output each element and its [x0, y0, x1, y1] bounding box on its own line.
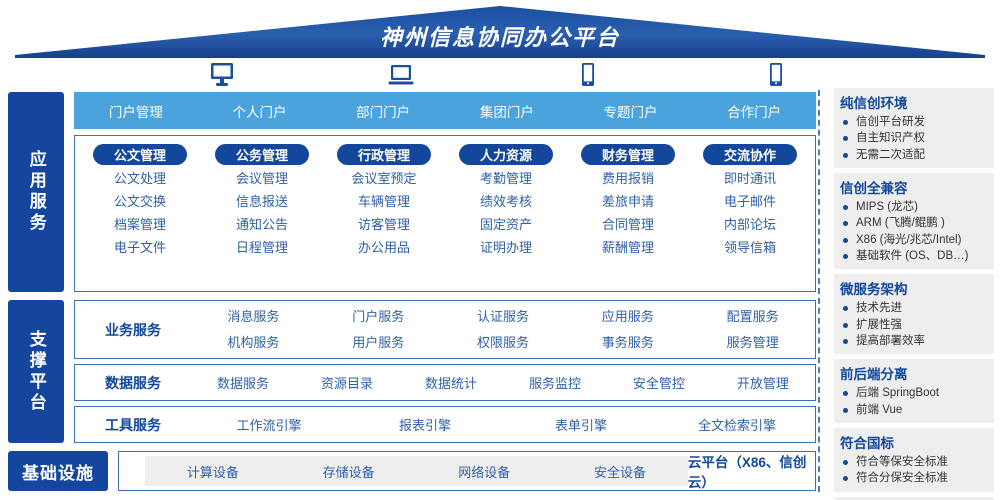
support-row-items: 数据服务资源目录数据统计服务监控安全管控开放管理 — [191, 373, 815, 392]
laptop-icon — [388, 62, 414, 88]
application-column: 公务管理会议管理信息报送通知公告日程管理 — [201, 144, 323, 287]
feature-panel-item: X86 (海光/兆芯/Intel) — [840, 232, 988, 248]
application-category-pill[interactable]: 公务管理 — [215, 144, 309, 165]
feature-panel-item: 符合分保安全标准 — [840, 470, 988, 486]
feature-panel-item: MIPS (龙芯) — [840, 199, 988, 215]
support-row-items: 消息服务门户服务认证服务应用服务配置服务机构服务用户服务权限服务事务服务服务管理 — [191, 304, 815, 356]
section-label-application-services: 应用服务 — [8, 92, 64, 292]
tablet-icon — [768, 62, 784, 88]
feature-panel: 前后端分离后端 SpringBoot前端 Vue — [834, 359, 994, 423]
support-service-item[interactable]: 全文检索引擎 — [659, 415, 815, 434]
application-item[interactable]: 通知公告 — [236, 218, 288, 231]
feature-panel-item: ARM (飞腾/鲲鹏 ) — [840, 215, 988, 231]
infrastructure-cloud-platform: 云平台（X86、信创云） — [688, 452, 815, 490]
application-item[interactable]: 合同管理 — [602, 218, 654, 231]
infrastructure-item[interactable]: 计算设备 — [145, 462, 281, 481]
section-label-support-platform-text: 支撑平台 — [23, 330, 49, 414]
feature-panel: 符合国标符合等保安全标准符合分保安全标准 — [834, 428, 994, 492]
infrastructure-item[interactable]: 安全设备 — [552, 462, 688, 481]
portal-item[interactable]: 个人门户 — [198, 101, 322, 121]
application-item[interactable]: 访客管理 — [358, 218, 410, 231]
page-title: 神州信息协同办公平台 — [0, 20, 1000, 52]
feature-panel-item: 前端 Vue — [840, 402, 988, 418]
infrastructure-item[interactable]: 网络设备 — [416, 462, 552, 481]
support-row-label: 数据服务 — [75, 373, 191, 393]
desktop-monitor-icon — [210, 62, 234, 88]
support-service-item[interactable]: 服务监控 — [503, 373, 607, 392]
support-row-label: 工具服务 — [75, 415, 191, 435]
support-service-item[interactable]: 安全管控 — [607, 373, 711, 392]
application-item[interactable]: 内部论坛 — [724, 218, 776, 231]
application-item[interactable]: 车辆管理 — [358, 195, 410, 208]
support-row-data-services: 数据服务数据服务资源目录数据统计服务监控安全管控开放管理 — [74, 364, 816, 401]
support-service-item[interactable]: 资源目录 — [295, 373, 399, 392]
portal-item[interactable]: 门户管理 — [74, 101, 198, 121]
application-item[interactable]: 领导信箱 — [724, 241, 776, 254]
vertical-dashed-divider — [818, 90, 820, 492]
application-category-pill[interactable]: 财务管理 — [581, 144, 675, 165]
support-service-item[interactable]: 服务管理 — [690, 330, 815, 356]
application-category-pill[interactable]: 行政管理 — [337, 144, 431, 165]
application-item[interactable]: 公文处理 — [114, 172, 166, 185]
support-service-item[interactable]: 开放管理 — [711, 373, 815, 392]
feature-panel-item: 符合等保安全标准 — [840, 454, 988, 470]
feature-panel-item: 提高部署效率 — [840, 333, 988, 349]
application-column: 行政管理会议室预定车辆管理访客管理办公用品 — [323, 144, 445, 287]
feature-panel-item: 技术先进 — [840, 300, 988, 316]
application-item[interactable]: 会议室预定 — [351, 172, 416, 185]
feature-panel-item: 信创平台研发 — [840, 114, 988, 130]
support-service-item[interactable]: 表单引擎 — [503, 415, 659, 434]
feature-panel-item: 自主知识产权 — [840, 130, 988, 146]
feature-panel-item: 无需二次适配 — [840, 147, 988, 163]
application-item[interactable]: 信息报送 — [236, 195, 288, 208]
application-item[interactable]: 固定资产 — [480, 218, 532, 231]
application-item[interactable]: 证明办理 — [480, 241, 532, 254]
support-service-item[interactable]: 应用服务 — [565, 304, 690, 330]
support-service-item[interactable]: 工作流引擎 — [191, 415, 347, 434]
support-service-item[interactable]: 事务服务 — [565, 330, 690, 356]
application-item[interactable]: 日程管理 — [236, 241, 288, 254]
feature-panel: 微服务架构技术先进扩展性强提高部署效率 — [834, 274, 994, 354]
section-label-support-platform: 支撑平台 — [8, 300, 64, 443]
application-services-card: 公文管理公文处理公文交换档案管理电子文件公务管理会议管理信息报送通知公告日程管理… — [74, 135, 816, 292]
section-label-infrastructure: 基础设施 — [8, 451, 108, 491]
feature-panel-title: 纯信创环境 — [840, 92, 988, 112]
application-column: 财务管理费用报销差旅申请合同管理薪酬管理 — [567, 144, 689, 287]
infrastructure-device-group: 计算设备存储设备网络设备安全设备 — [145, 456, 688, 486]
application-item[interactable]: 会议管理 — [236, 172, 288, 185]
support-service-item[interactable]: 数据统计 — [399, 373, 503, 392]
feature-panel-item: 基础软件 (OS、DB…) — [840, 248, 988, 264]
application-item[interactable]: 薪酬管理 — [602, 241, 654, 254]
application-column: 人力资源考勤管理绩效考核固定资产证明办理 — [445, 144, 567, 287]
support-service-item[interactable]: 机构服务 — [191, 330, 316, 356]
feature-panel-title: 信创全兼容 — [840, 177, 988, 197]
support-service-item[interactable]: 消息服务 — [191, 304, 316, 330]
support-service-item[interactable]: 配置服务 — [690, 304, 815, 330]
feature-panels: 纯信创环境信创平台研发自主知识产权无需二次适配信创全兼容MIPS (龙芯)ARM… — [834, 88, 994, 494]
feature-panel-title: 前后端分离 — [840, 363, 988, 383]
feature-panel-title: 符合国标 — [840, 432, 988, 452]
application-item[interactable]: 费用报销 — [602, 172, 654, 185]
feature-panel-item: 后端 SpringBoot — [840, 385, 988, 401]
support-service-item[interactable]: 门户服务 — [316, 304, 441, 330]
application-category-pill[interactable]: 人力资源 — [459, 144, 553, 165]
support-service-item[interactable]: 权限服务 — [441, 330, 566, 356]
title-banner: 神州信息协同办公平台 — [0, 0, 1000, 60]
support-row-tool-services: 工具服务工作流引擎报表引擎表单引擎全文检索引擎 — [74, 406, 816, 443]
support-service-item[interactable]: 数据服务 — [191, 373, 295, 392]
section-label-application-services-text: 应用服务 — [23, 150, 49, 234]
application-column: 公文管理公文处理公文交换档案管理电子文件 — [79, 144, 201, 287]
support-service-item[interactable]: 认证服务 — [441, 304, 566, 330]
feature-panel-item: 扩展性强 — [840, 317, 988, 333]
application-item[interactable]: 公文交换 — [114, 195, 166, 208]
application-item[interactable]: 即时通讯 — [724, 172, 776, 185]
application-item[interactable]: 差旅申请 — [602, 195, 654, 208]
feature-panel: 信创全兼容MIPS (龙芯)ARM (飞腾/鲲鹏 )X86 (海光/兆芯/Int… — [834, 173, 994, 269]
portal-item[interactable]: 专题门户 — [569, 101, 693, 121]
application-item[interactable]: 电子文件 — [114, 241, 166, 254]
section-label-infrastructure-text: 基础设施 — [22, 459, 94, 484]
application-item[interactable]: 考勤管理 — [480, 172, 532, 185]
portal-item[interactable]: 集团门户 — [445, 101, 569, 121]
feature-panel-title: 微服务架构 — [840, 278, 988, 298]
application-column: 交流协作即时通讯电子邮件内部论坛领导信箱 — [689, 144, 811, 287]
support-row-items: 工作流引擎报表引擎表单引擎全文检索引擎 — [191, 415, 815, 434]
infrastructure-bar: 计算设备存储设备网络设备安全设备 云平台（X86、信创云） — [118, 451, 816, 491]
application-item[interactable]: 办公用品 — [358, 241, 410, 254]
infrastructure-item[interactable]: 存储设备 — [281, 462, 417, 481]
application-category-pill[interactable]: 公文管理 — [93, 144, 187, 165]
application-item[interactable]: 档案管理 — [114, 218, 166, 231]
mobile-phone-icon — [580, 62, 596, 88]
feature-panel: 纯信创环境信创平台研发自主知识产权无需二次适配 — [834, 88, 994, 168]
support-row-business-services: 业务服务消息服务门户服务认证服务应用服务配置服务机构服务用户服务权限服务事务服务… — [74, 300, 816, 359]
portal-bar: 门户管理个人门户部门门户集团门户专题门户合作门户 — [74, 92, 816, 129]
portal-item[interactable]: 部门门户 — [321, 101, 445, 121]
support-service-item[interactable]: 报表引擎 — [347, 415, 503, 434]
application-item[interactable]: 绩效考核 — [480, 195, 532, 208]
application-item[interactable]: 电子邮件 — [724, 195, 776, 208]
support-service-item[interactable]: 用户服务 — [316, 330, 441, 356]
support-row-label: 业务服务 — [75, 320, 191, 340]
portal-item[interactable]: 合作门户 — [692, 101, 816, 121]
application-category-pill[interactable]: 交流协作 — [703, 144, 797, 165]
architecture-diagram: 神州信息协同办公平台 — [0, 0, 1000, 500]
device-icons-row — [150, 62, 815, 90]
feature-panel: 接口丰富开放API管理 — [834, 497, 994, 500]
